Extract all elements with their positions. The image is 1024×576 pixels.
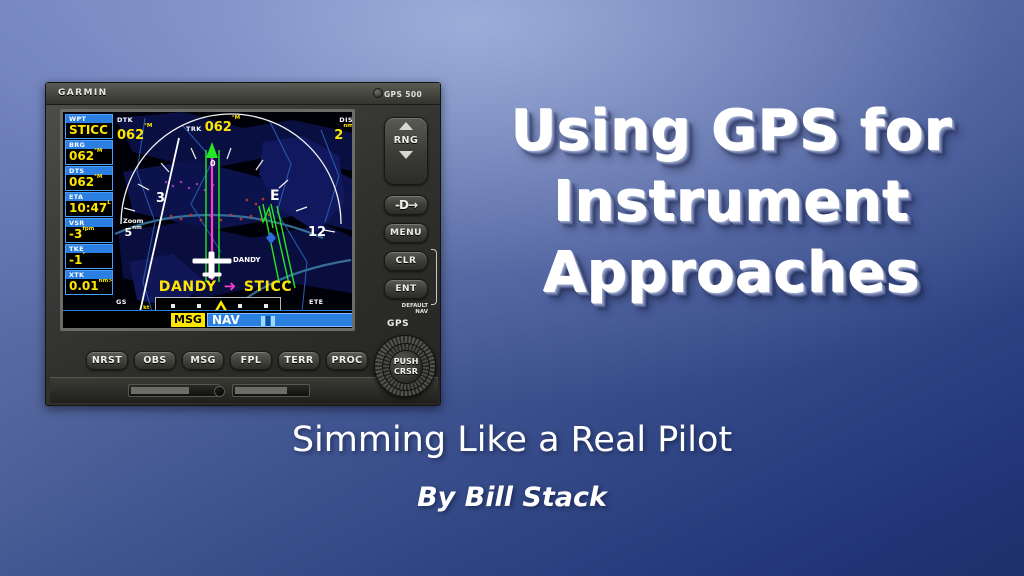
title-line-3: Approaches [452, 246, 1012, 302]
rng-label: RNG [385, 135, 427, 146]
triangle-down-icon[interactable] [399, 151, 413, 159]
fpl-button[interactable]: FPL [230, 351, 272, 370]
menu-key[interactable]: MENU [384, 223, 428, 243]
garmin-gps-500-unit: GARMIN GPS 500 [45, 82, 441, 406]
obs-button[interactable]: OBS [134, 351, 176, 370]
slide-canvas: GARMIN GPS 500 [0, 0, 1024, 576]
push-crsr-center[interactable]: PUSH CRSR [389, 350, 423, 384]
proc-button[interactable]: PROC [326, 351, 368, 370]
field-value-vsr: -3fpm [65, 227, 113, 243]
title-line-2: Instrument [452, 175, 1012, 231]
msg-button[interactable]: MSG [182, 351, 224, 370]
cursor-knob[interactable]: PUSH CRSR [374, 335, 436, 397]
active-leg-banner: DANDY➜STICC [133, 277, 318, 295]
leg-to-waypoint: STICC [244, 279, 292, 295]
cdi-dot [264, 304, 268, 308]
rng-rocker-key[interactable]: RNG [384, 117, 428, 185]
field-value-xtk: 0.01nm> [65, 279, 113, 295]
unit-model-label: GPS 500 [384, 90, 422, 99]
nav-mode-chip: NAV [207, 313, 355, 327]
field-label-tke: TKE [65, 244, 113, 253]
svg-text:0: 0 [210, 159, 216, 168]
default-nav-label: DEFAULT NAV [386, 303, 428, 315]
field-value-brg: 062°M [65, 149, 113, 165]
default-nav-brace [431, 249, 437, 305]
card-slot-right[interactable] [232, 384, 310, 397]
svg-text:DANDY: DANDY [233, 256, 261, 264]
gps-moving-map-screen[interactable]: DANDY 3 E 12 0 WPT STICC BRG 062°M DTS 0… [60, 109, 355, 331]
field-value-wpt: STICC [65, 123, 113, 139]
card-slot-left[interactable] [128, 384, 220, 397]
svg-text:12: 12 [308, 225, 326, 240]
left-data-field-strip: WPT STICC BRG 062°M DTS 062°M ETA 10:47L… [65, 114, 113, 296]
svg-text:E: E [270, 188, 280, 204]
slide-byline: By Bill Stack [0, 482, 1024, 513]
power-dot-icon[interactable] [373, 88, 383, 98]
field-value-eta: 10:47L [65, 201, 113, 217]
slide-title: Using GPS for Instrument Approaches [452, 104, 1012, 317]
nrst-button[interactable]: NRST [86, 351, 128, 370]
field-label-wpt: WPT [65, 114, 113, 123]
screw-icon [214, 386, 225, 397]
field-label-brg: BRG [65, 140, 113, 149]
field-value-dts: 062°M [65, 175, 113, 191]
direct-to-key[interactable]: -D→ [384, 195, 428, 215]
map-zoom-indicator: Zoom 5nm [123, 217, 143, 239]
field-value-tke: -1° [65, 253, 113, 269]
message-annunciator[interactable]: MSG [171, 313, 205, 327]
garmin-brand-logo: GARMIN [58, 88, 108, 98]
screen-status-bar: MSG NAV [63, 310, 355, 328]
map-field-dtk: DTK 062°M [117, 116, 152, 143]
slide-subtitle: Simming Like a Real Pilot [0, 420, 1024, 460]
cdi-dot [171, 304, 175, 308]
ent-key[interactable]: ENT [384, 279, 428, 299]
triangle-up-icon[interactable] [399, 122, 413, 130]
map-field-dis: DIS 2nm [321, 116, 353, 143]
field-label-dts: DTS [65, 166, 113, 175]
cdi-dot [238, 304, 242, 308]
field-label-eta: ETA [65, 192, 113, 201]
direct-to-icon: -D→ [395, 198, 417, 212]
leg-from-waypoint: DANDY [159, 279, 217, 295]
nav-signal-bars-icon [261, 316, 275, 326]
clr-key[interactable]: CLR [384, 251, 428, 271]
gps-section-label: GPS [387, 319, 409, 329]
title-line-1: Using GPS for [452, 104, 1012, 160]
cdi-dot [197, 304, 201, 308]
magenta-arrow-icon: ➜ [224, 277, 237, 295]
map-field-trk: TRK062°M [186, 116, 240, 135]
terr-button[interactable]: TERR [278, 351, 320, 370]
svg-text:3: 3 [156, 191, 165, 206]
